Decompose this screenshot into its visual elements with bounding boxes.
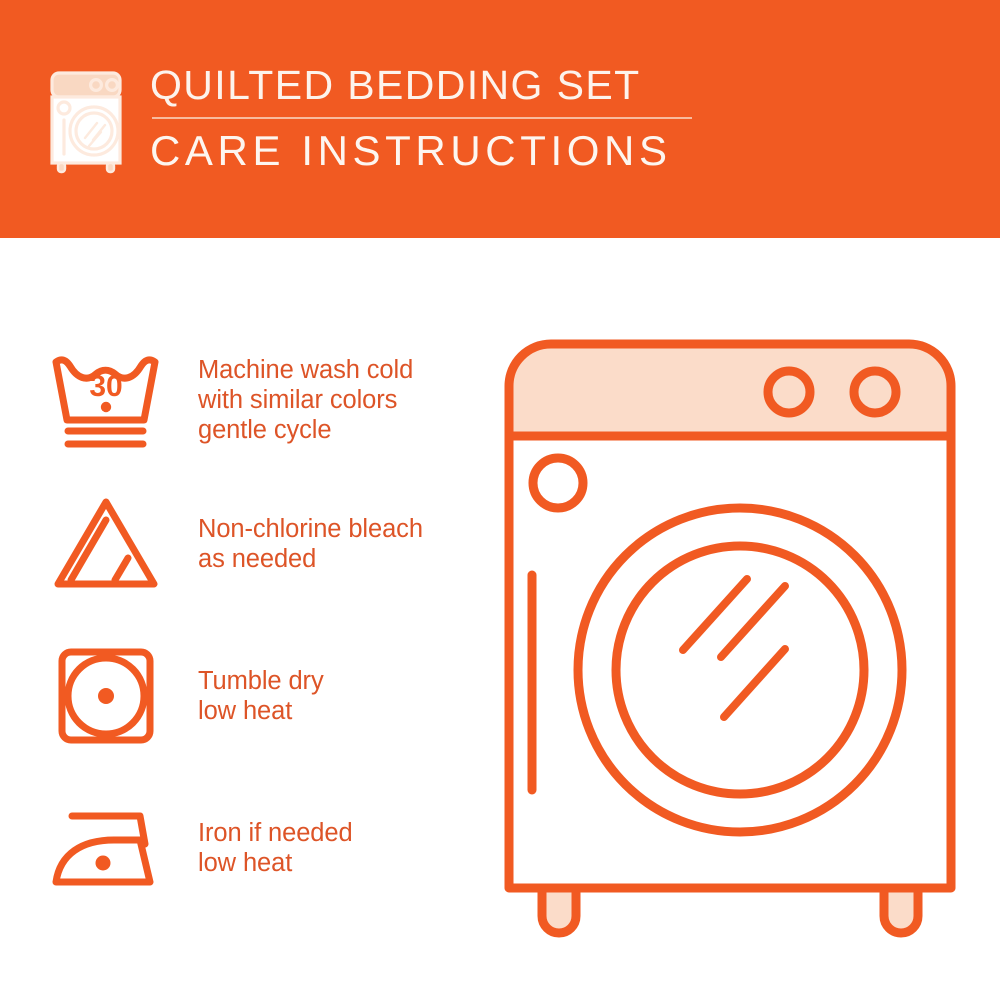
header-content: QUILTED BEDDING SET CARE INSTRUCTIONS <box>44 62 692 176</box>
care-text-dry: Tumble dry low heat <box>198 666 324 726</box>
non-chlorine-bleach-triangle-icon <box>46 486 166 602</box>
care-line: gentle cycle <box>198 415 413 445</box>
care-line: as needed <box>198 544 423 574</box>
control-panel <box>509 344 951 436</box>
care-line: Iron if needed <box>198 818 353 848</box>
care-row-bleach: Non-chlorine bleach as needed <box>46 486 486 602</box>
page-title: QUILTED BEDDING SET <box>150 62 692 108</box>
care-line: with similar colors <box>198 385 413 415</box>
front-load-washing-machine-illustration <box>495 330 965 940</box>
wash-tub-30-gentle-icon: 30 <box>46 342 166 458</box>
title-divider <box>152 117 692 119</box>
care-line: low heat <box>198 696 324 726</box>
care-text-bleach: Non-chlorine bleach as needed <box>198 514 423 574</box>
washing-machine-icon <box>44 68 136 176</box>
leg-left <box>542 888 576 933</box>
care-row-iron: Iron if needed low heat <box>46 790 486 906</box>
leg-right <box>884 888 918 933</box>
iron-low-heat-icon <box>46 790 166 906</box>
care-text-iron: Iron if needed low heat <box>198 818 353 878</box>
page-header: QUILTED BEDDING SET CARE INSTRUCTIONS <box>0 0 1000 238</box>
care-line: Non-chlorine bleach <box>198 514 423 544</box>
page-subtitle: CARE INSTRUCTIONS <box>150 127 692 175</box>
care-row-wash: 30 Machine wash cold with similar colors… <box>46 342 486 458</box>
care-line: low heat <box>198 848 353 878</box>
wash-temperature-value: 30 <box>89 370 122 403</box>
care-text-wash: Machine wash cold with similar colors ge… <box>198 355 413 445</box>
care-instructions-page: QUILTED BEDDING SET CARE INSTRUCTIONS 30 <box>0 0 1000 1000</box>
care-line: Tumble dry <box>198 666 324 696</box>
tumble-dry-low-heat-icon <box>46 638 166 754</box>
care-instruction-list: 30 Machine wash cold with similar colors… <box>0 238 500 1000</box>
care-line: Machine wash cold <box>198 355 413 385</box>
header-text-block: QUILTED BEDDING SET CARE INSTRUCTIONS <box>150 62 692 175</box>
care-row-dry: Tumble dry low heat <box>46 638 486 754</box>
